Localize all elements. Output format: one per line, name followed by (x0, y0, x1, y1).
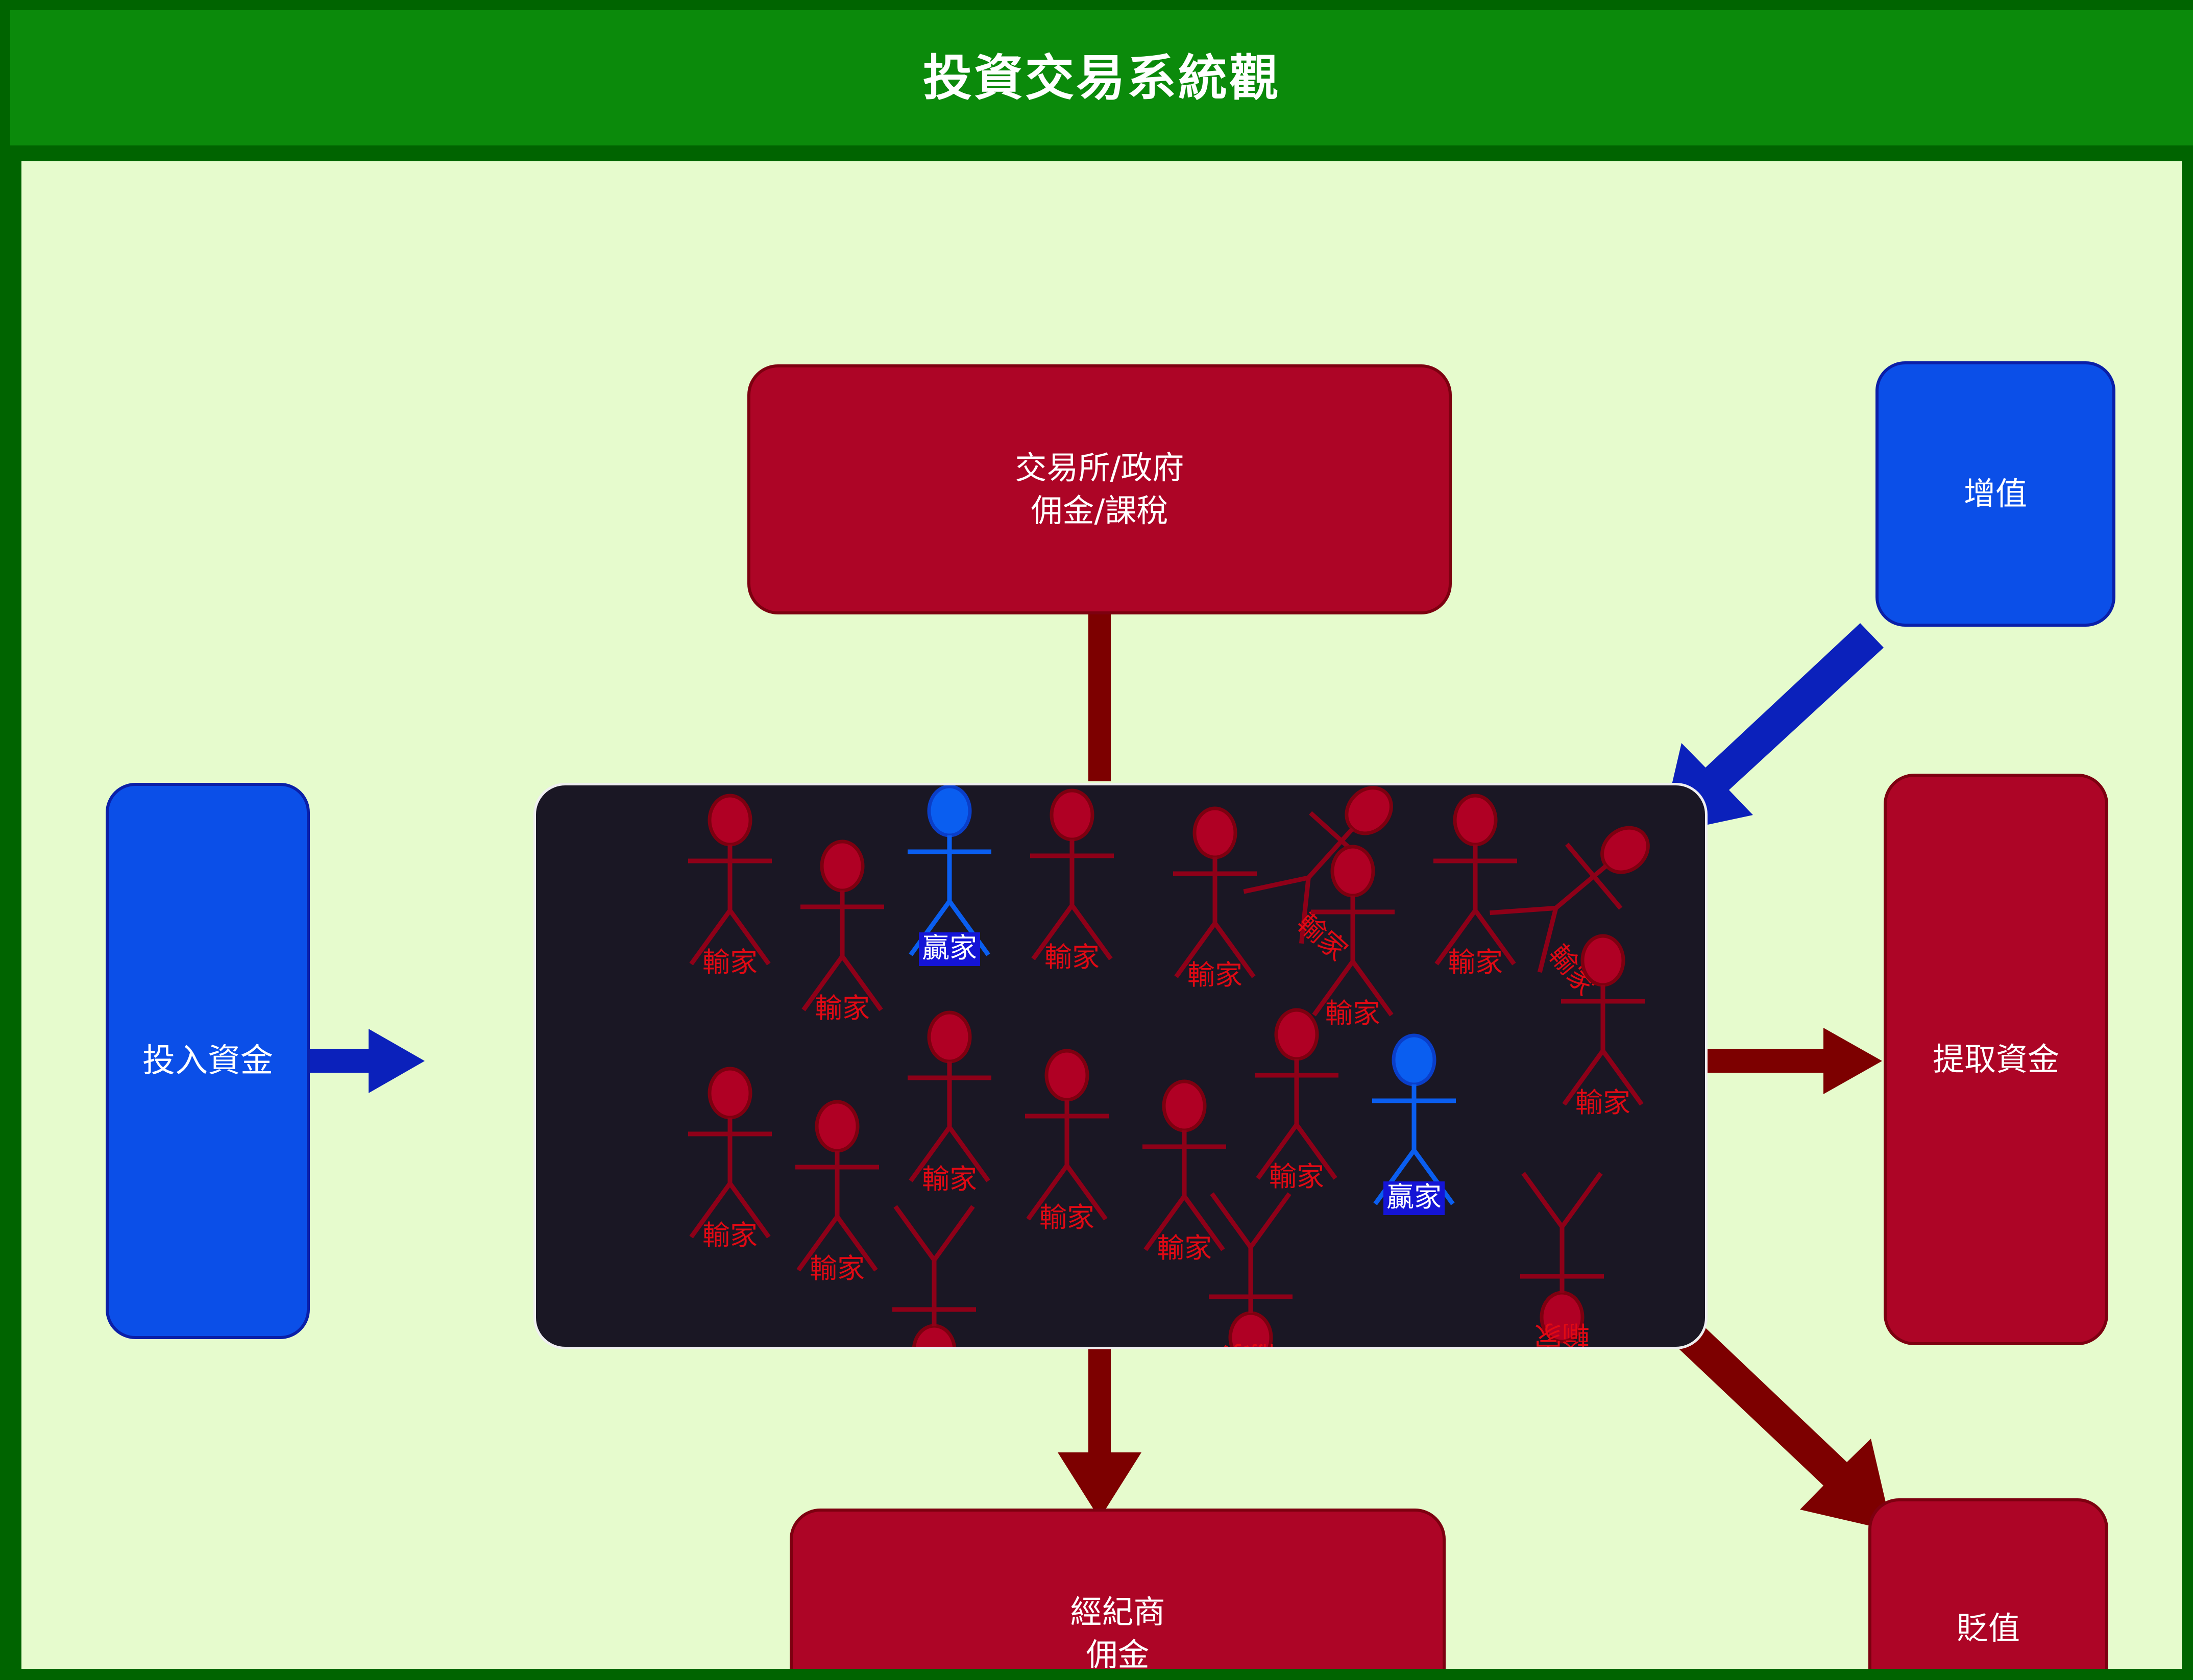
stick-figure-icon (1547, 936, 1659, 1109)
stick-figure-icon (1297, 847, 1409, 1020)
loser-label: 輸家 (1325, 1000, 1380, 1027)
loser-label: 輸家 (702, 1222, 758, 1249)
stick-figure-icon (1016, 790, 1128, 964)
node-withdraw-funds[interactable]: 提取資金 (1884, 774, 2108, 1345)
loser-label: 輸家 (1269, 1163, 1324, 1191)
stick-figure-loser (781, 1102, 893, 1275)
winner-label: 贏家 (919, 932, 980, 966)
stick-figure-loser (1240, 1010, 1353, 1183)
loser-label: 輸家 (1039, 1204, 1094, 1231)
stick-figure-loser (674, 796, 786, 969)
loser-label: 輸家 (815, 995, 870, 1022)
node-depreciation-label: 貶值 (1957, 1607, 2020, 1650)
stick-figure-icon (674, 1069, 786, 1242)
loser-label: 輸家 (810, 1255, 865, 1282)
arrow-arena-to-broker (1058, 1345, 1141, 1519)
loser-label: 輸家 (1575, 1089, 1630, 1117)
node-broker-commission[interactable]: 經紀商 佣金 (790, 1509, 1446, 1669)
stick-figure-icon (893, 1012, 1006, 1186)
arrow-arena-to-depreciate (1671, 1318, 1892, 1531)
node-exchange-government[interactable]: 交易所/政府 佣金/課稅 (747, 364, 1452, 614)
stick-figure-icon (1011, 1051, 1123, 1224)
winner-label: 贏家 (1383, 1181, 1445, 1215)
node-appreciation-label: 增值 (1964, 473, 2027, 515)
page-title: 投資交易系統觀 (923, 54, 1280, 103)
stick-figure-loser (1016, 790, 1128, 964)
stick-figure-loser (1195, 1189, 1307, 1349)
stick-figure-loser (1506, 1168, 1618, 1342)
node-exchange-government-label: 交易所/政府 佣金/課稅 (1015, 447, 1184, 532)
stick-figure-icon (786, 842, 898, 1015)
stick-figure-icon (1195, 1189, 1307, 1349)
arrow-arena-to-withdraw (1701, 1028, 1882, 1094)
stick-figure-loser (786, 842, 898, 1015)
stick-figure-icon (878, 1201, 990, 1349)
node-withdraw-funds-label: 提取資金 (1933, 1038, 2059, 1081)
node-deposit-funds-label: 投入資金 (142, 1039, 273, 1083)
stick-figure-loser (1011, 1051, 1123, 1224)
loser-label: 輸家 (1044, 944, 1100, 971)
header-band: 投資交易系統觀 (10, 10, 2193, 145)
loser-label: 輸家 (922, 1166, 977, 1193)
stick-figure-icon (1506, 1168, 1618, 1342)
trading-arena: 輸家輸家贏家輸家輸家輸家輸家輸家輸家輸家輸家輸家輸家輸家贏家輸家輸家輸家輸家輸家 (533, 783, 1708, 1349)
node-appreciation[interactable]: 增值 (1875, 361, 2115, 627)
node-depreciation[interactable]: 貶值 (1868, 1498, 2108, 1669)
loser-label: 輸家 (1223, 1342, 1278, 1349)
stick-figure-loser (674, 1069, 786, 1242)
loser-label: 輸家 (1187, 961, 1242, 989)
node-broker-commission-label: 經紀商 佣金 (1070, 1591, 1165, 1669)
stick-figure-loser (1547, 936, 1659, 1109)
node-deposit-funds[interactable]: 投入資金 (106, 783, 310, 1339)
stick-figure-icon (674, 796, 786, 969)
diagram-canvas: 交易所/政府 佣金/課稅 增值 投入資金 提取資金 經紀商 佣金 貶值 輸家輸家… (21, 161, 2182, 1669)
stick-figure-icon (1240, 1010, 1353, 1183)
loser-label: 輸家 (702, 949, 758, 976)
stick-figure-icon (781, 1102, 893, 1275)
stick-figure-loser (893, 1012, 1006, 1186)
stick-figure-loser (1297, 847, 1409, 1020)
loser-label: 輸家 (1534, 1321, 1590, 1349)
diagram-page: 投資交易系統觀 (0, 0, 2193, 1680)
stick-figure-loser (878, 1201, 990, 1349)
loser-label: 輸家 (1448, 949, 1503, 976)
